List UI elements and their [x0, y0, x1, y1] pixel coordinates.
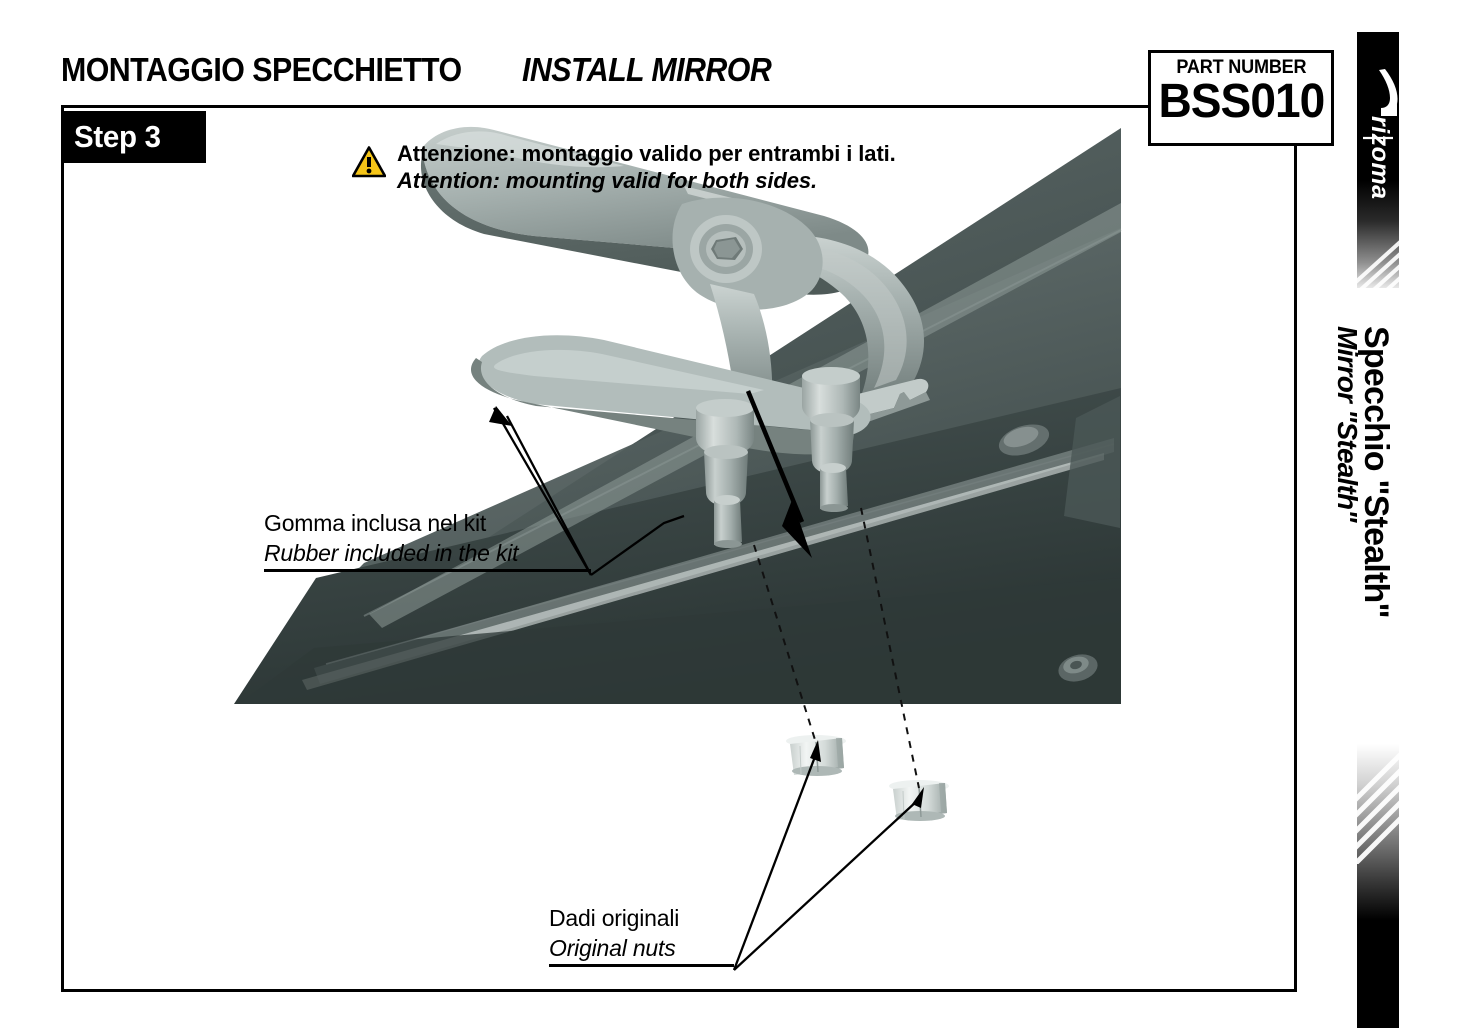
warning-italian: Attenzione: montaggio valido per entramb… — [397, 140, 896, 167]
callout-nuts-english: Original nuts — [549, 933, 734, 963]
callout-nuts-italian: Dadi originali — [549, 903, 734, 933]
warning-triangle-icon — [352, 146, 386, 178]
warning-note: Attenzione: montaggio valido per entramb… — [352, 140, 896, 194]
sidebar-product-english: Mirror "Stealth" — [1331, 326, 1363, 522]
callout-rubber-rule — [264, 569, 591, 572]
sidebar-bottom-block — [1357, 744, 1399, 1028]
page-title: MONTAGGIO SPECCHIETTO INSTALL MIRROR — [61, 46, 1142, 94]
step-badge-label: Step 3 — [74, 119, 161, 155]
sidebar-product-text: Specchio "Stealth" Mirror "Stealth" — [1357, 288, 1399, 744]
callout-nuts-rule — [549, 964, 734, 967]
sidebar-stripes-bottom — [1357, 744, 1399, 864]
assembly-illustration — [64, 108, 1297, 992]
instruction-sheet-page: MONTAGGIO SPECCHIETTO INSTALL MIRROR — [0, 0, 1462, 1033]
step-badge: Step 3 — [61, 111, 206, 163]
page-title-italian: MONTAGGIO SPECCHIETTO — [61, 51, 462, 89]
page-title-english: INSTALL MIRROR — [522, 51, 771, 89]
sidebar-brand-name: rizoma — [1359, 116, 1399, 226]
sidebar-stripes-top — [1357, 228, 1399, 288]
warning-text: Attenzione: montaggio valido per entramb… — [397, 140, 896, 194]
callout-rubber-italian: Gomma inclusa nel kit — [264, 508, 591, 538]
brand-sidebar: rizoma Specchio "Stealth" Mirror "Stealt… — [1357, 32, 1399, 996]
part-number-value: BSS010 — [1158, 77, 1324, 127]
callout-nuts: Dadi originali Original nuts — [549, 903, 734, 967]
warning-english: Attention: mounting valid for both sides… — [397, 167, 896, 194]
sidebar-top-block: rizoma — [1357, 32, 1399, 288]
callout-rubber: Gomma inclusa nel kit Rubber included in… — [264, 508, 591, 572]
content-frame: Gomma inclusa nel kit Rubber included in… — [61, 105, 1297, 992]
callout-rubber-english: Rubber included in the kit — [264, 538, 591, 568]
part-number-box: PART NUMBER BSS010 — [1148, 50, 1334, 146]
